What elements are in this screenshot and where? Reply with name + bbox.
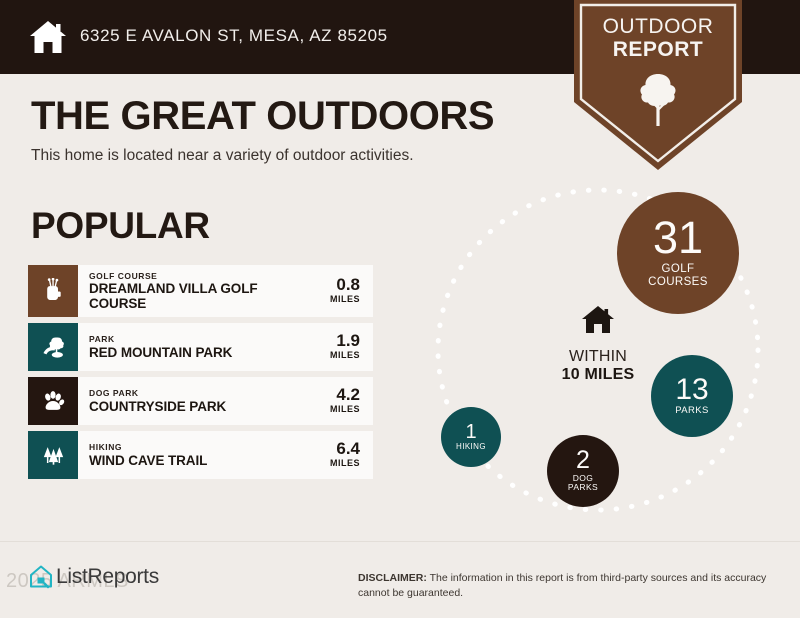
poi-distance-unit: MILES bbox=[330, 350, 360, 362]
poi-distance-unit: MILES bbox=[330, 458, 360, 470]
house-icon bbox=[513, 305, 683, 340]
footer-divider bbox=[0, 541, 800, 542]
badge-text: OUTDOOR REPORT bbox=[574, 16, 742, 61]
bubble-golf-courses[interactable]: 31 GOLF COURSES bbox=[617, 192, 739, 314]
list-item[interactable]: HIKING WIND CAVE TRAIL 6.4 MILES bbox=[28, 431, 373, 479]
poi-text: HIKING WIND CAVE TRAIL bbox=[78, 431, 290, 479]
bubble-label-line1: GOLF bbox=[662, 263, 695, 275]
list-item[interactable]: PARK RED MOUNTAIN PARK 1.9 MILES bbox=[28, 323, 373, 371]
bubble-label: HIKING bbox=[456, 443, 486, 452]
bubble-label: PARKS bbox=[675, 406, 709, 416]
bubble-label-line2: PARKS bbox=[568, 482, 598, 492]
badge-line-report: REPORT bbox=[574, 39, 742, 62]
popular-list: GOLF COURSE DREAMLAND VILLA GOLF COURSE … bbox=[28, 265, 373, 485]
poi-text: DOG PARK COUNTRYSIDE PARK bbox=[78, 377, 290, 425]
house-icon bbox=[28, 17, 68, 57]
house-logo-icon bbox=[28, 564, 54, 590]
poi-name: COUNTRYSIDE PARK bbox=[89, 399, 290, 414]
bubble-label-line2: COURSES bbox=[648, 276, 708, 288]
page-subtitle: This home is located near a variety of o… bbox=[31, 147, 494, 165]
poi-category: PARK bbox=[89, 334, 290, 345]
list-item[interactable]: DOG PARK COUNTRYSIDE PARK 4.2 MILES bbox=[28, 377, 373, 425]
diagram-center-label: WITHIN 10 MILES bbox=[513, 305, 683, 385]
listreports-logo-text: ListReports bbox=[56, 565, 159, 589]
disclaimer: DISCLAIMER: The information in this repo… bbox=[358, 571, 778, 601]
center-miles-text: 10 MILES bbox=[513, 366, 683, 384]
poi-name: RED MOUNTAIN PARK bbox=[89, 345, 290, 360]
pine-trees-icon bbox=[41, 443, 66, 468]
poi-distance: 4.2 MILES bbox=[290, 377, 373, 425]
title-block: THE GREAT OUTDOORS This home is located … bbox=[31, 96, 494, 165]
poi-distance-value: 6.4 bbox=[336, 440, 360, 458]
poi-text: GOLF COURSE DREAMLAND VILLA GOLF COURSE bbox=[78, 265, 290, 317]
bubble-hiking[interactable]: 1 HIKING bbox=[441, 407, 501, 467]
poi-name: WIND CAVE TRAIL bbox=[89, 453, 290, 468]
poi-distance: 0.8 MILES bbox=[290, 265, 373, 317]
poi-distance-unit: MILES bbox=[330, 294, 360, 306]
poi-category: GOLF COURSE bbox=[89, 271, 290, 282]
bubble-count: 2 bbox=[576, 449, 590, 473]
listreports-logo[interactable]: ListReports bbox=[28, 564, 159, 590]
outdoor-report-badge: OUTDOOR REPORT bbox=[574, 0, 742, 170]
tree-icon bbox=[636, 72, 680, 128]
poi-distance-value: 0.8 bbox=[336, 276, 360, 294]
poi-icon-tile bbox=[28, 431, 78, 479]
park-tree-icon bbox=[40, 334, 66, 360]
popular-heading: POPULAR bbox=[31, 207, 210, 244]
poi-distance-value: 4.2 bbox=[336, 386, 360, 404]
amenities-bubble-diagram: 31 GOLF COURSES 13 PARKS 2 DOG PARKS 1 H… bbox=[395, 170, 795, 535]
header-address: 6325 E AVALON ST, MESA, AZ 85205 bbox=[80, 26, 388, 46]
poi-distance: 1.9 MILES bbox=[290, 323, 373, 371]
list-item[interactable]: GOLF COURSE DREAMLAND VILLA GOLF COURSE … bbox=[28, 265, 373, 317]
bubble-count: 1 bbox=[465, 423, 476, 442]
poi-distance: 6.4 MILES bbox=[290, 431, 373, 479]
poi-category: DOG PARK bbox=[89, 388, 290, 399]
poi-category: HIKING bbox=[89, 442, 290, 453]
bubble-count: 31 bbox=[653, 217, 703, 260]
outdoor-report-infographic: 6325 E AVALON ST, MESA, AZ 85205 OUTDOOR… bbox=[0, 0, 800, 618]
poi-icon-tile bbox=[28, 323, 78, 371]
poi-text: PARK RED MOUNTAIN PARK bbox=[78, 323, 290, 371]
badge-line-outdoor: OUTDOOR bbox=[574, 16, 742, 39]
disclaimer-label: DISCLAIMER: bbox=[358, 572, 427, 584]
page-title: THE GREAT OUTDOORS bbox=[31, 96, 494, 136]
golf-bag-icon bbox=[40, 278, 67, 305]
poi-name: DREAMLAND VILLA GOLF COURSE bbox=[89, 281, 290, 311]
poi-icon-tile bbox=[28, 377, 78, 425]
bubble-label: DOG PARKS bbox=[568, 474, 598, 493]
bubble-dog-parks[interactable]: 2 DOG PARKS bbox=[547, 435, 619, 507]
center-within-text: WITHIN bbox=[513, 348, 683, 366]
poi-distance-unit: MILES bbox=[330, 404, 360, 416]
bubble-label: GOLF COURSES bbox=[648, 263, 708, 288]
poi-distance-value: 1.9 bbox=[336, 332, 360, 350]
paw-print-icon bbox=[40, 388, 66, 414]
poi-icon-tile bbox=[28, 265, 78, 317]
